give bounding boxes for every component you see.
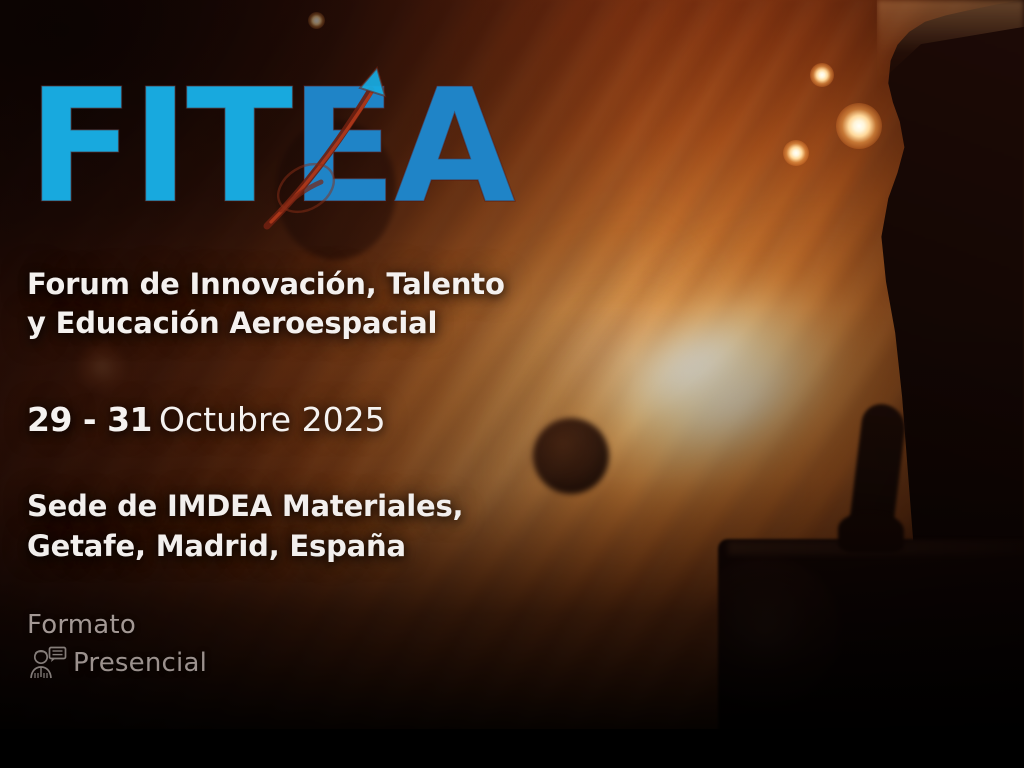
poster-content: FITEA Forum de Innovación, Talento y Edu…: [27, 0, 727, 680]
format-value: Presencial: [73, 648, 207, 678]
event-date-days: 29 - 31: [27, 400, 152, 439]
bottom-letterbox-bar: [0, 729, 1024, 768]
format-value-row: Presencial: [27, 646, 727, 680]
event-format-block: Formato Presencial: [27, 610, 727, 680]
logo-text-fit: FIT: [27, 55, 290, 239]
event-venue: Sede de IMDEA Materiales, Getafe, Madrid…: [27, 487, 727, 566]
poster-canvas: FITEA Forum de Innovación, Talento y Edu…: [0, 0, 1024, 768]
venue-line-2: Getafe, Madrid, España: [27, 527, 727, 566]
event-date: 29 - 31Octubre 2025: [27, 400, 727, 439]
rocket-trail-icon: [259, 60, 409, 230]
format-label: Formato: [27, 610, 727, 640]
subtitle-line-2: y Educación Aeroespacial: [27, 304, 727, 343]
subtitle-line-1: Forum de Innovación, Talento: [27, 265, 727, 304]
presenter-icon: [27, 646, 67, 680]
logo-wrapper: FITEA: [27, 68, 727, 253]
event-date-month-year: Octubre 2025: [159, 400, 386, 439]
venue-line-1: Sede de IMDEA Materiales,: [27, 487, 727, 526]
event-subtitle: Forum de Innovación, Talento y Educación…: [27, 265, 727, 342]
